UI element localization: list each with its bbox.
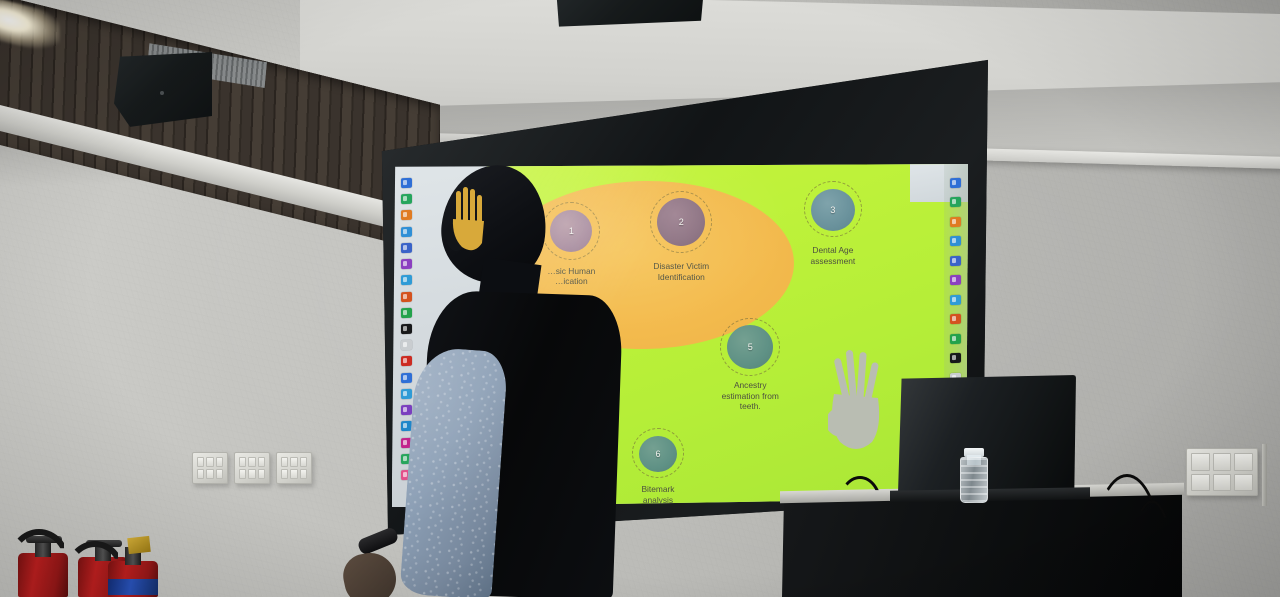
presenter-shirt-sleeve [399,346,508,597]
light-switch[interactable] [1234,453,1253,471]
presenter-lowered-hand [339,548,401,597]
light-switch[interactable] [258,469,265,479]
light-switch[interactable] [206,457,213,467]
switch-plate-left-2[interactable] [234,452,270,484]
light-switch[interactable] [281,469,288,479]
light-switch[interactable] [248,457,255,467]
light-switch[interactable] [216,457,223,467]
presenter-raised-hand [450,185,498,265]
light-switch[interactable] [248,469,255,479]
dock-right-app-2-icon[interactable] [950,197,961,207]
light-switch[interactable] [197,469,204,479]
dock-right-app-1-icon[interactable] [950,178,961,188]
node-bubble: 5 [727,325,773,369]
light-switch[interactable] [281,457,288,467]
switch-plate-left-1[interactable] [192,452,228,484]
dock-right-app-3-icon[interactable] [950,216,961,226]
node-caption: Disaster Victim Identification [635,261,727,282]
extinguisher-tag [127,536,151,554]
light-switch[interactable] [300,457,307,467]
dock-right-app-6-icon[interactable] [950,275,961,285]
node-bubble: 6 [639,436,677,472]
switch-plate-right[interactable] [1186,448,1258,496]
switch-plate-left-3[interactable] [276,452,312,484]
node-caption: Ancestry estimation from teeth. [704,380,796,411]
light-switch[interactable] [1213,453,1232,471]
presenter-wristwatch [356,526,399,556]
light-switch[interactable] [197,457,204,467]
light-switch[interactable] [239,457,246,467]
diagram-node-5: 5 Ancestry estimation from teeth. [696,318,804,442]
node-caption: Dental Age assessment [787,245,879,266]
dock-right-app-9-icon[interactable] [950,333,961,343]
dock-right-app-7-icon[interactable] [950,294,961,304]
extinguisher-band [108,579,158,595]
light-switch[interactable] [258,457,265,467]
dock-right-app-8-icon[interactable] [950,314,961,324]
light-switch[interactable] [1234,474,1253,492]
room-scene: IFPD 1 …sic Human …ication 2 Disaster Vi… [0,0,1280,597]
light-switch[interactable] [290,457,297,467]
node-bubble: 2 [657,198,705,246]
light-switch[interactable] [206,469,213,479]
node-bubble: 3 [811,189,855,231]
conduit-pipe [1262,444,1267,506]
ceiling-light [0,0,60,56]
speaker-driver-icon [160,91,164,95]
diagram-node-3: 3 Dental Age assessment [783,181,883,301]
dock-right-app-5-icon[interactable] [950,255,961,265]
bottle-body [960,457,988,503]
light-switch[interactable] [1213,474,1232,492]
light-switch[interactable] [1191,453,1210,471]
dock-right-app-4-icon[interactable] [950,236,961,246]
light-switch[interactable] [1191,474,1210,492]
light-switch[interactable] [239,469,246,479]
diagram-node-2: 2 Disaster Victim Identification [631,191,731,311]
presenter-pointing-hand [828,348,890,456]
light-switch[interactable] [300,469,307,479]
dock-right-app-10-icon[interactable] [950,353,961,363]
light-switch[interactable] [290,469,297,479]
water-bottle[interactable] [958,443,990,503]
light-switch[interactable] [216,469,223,479]
